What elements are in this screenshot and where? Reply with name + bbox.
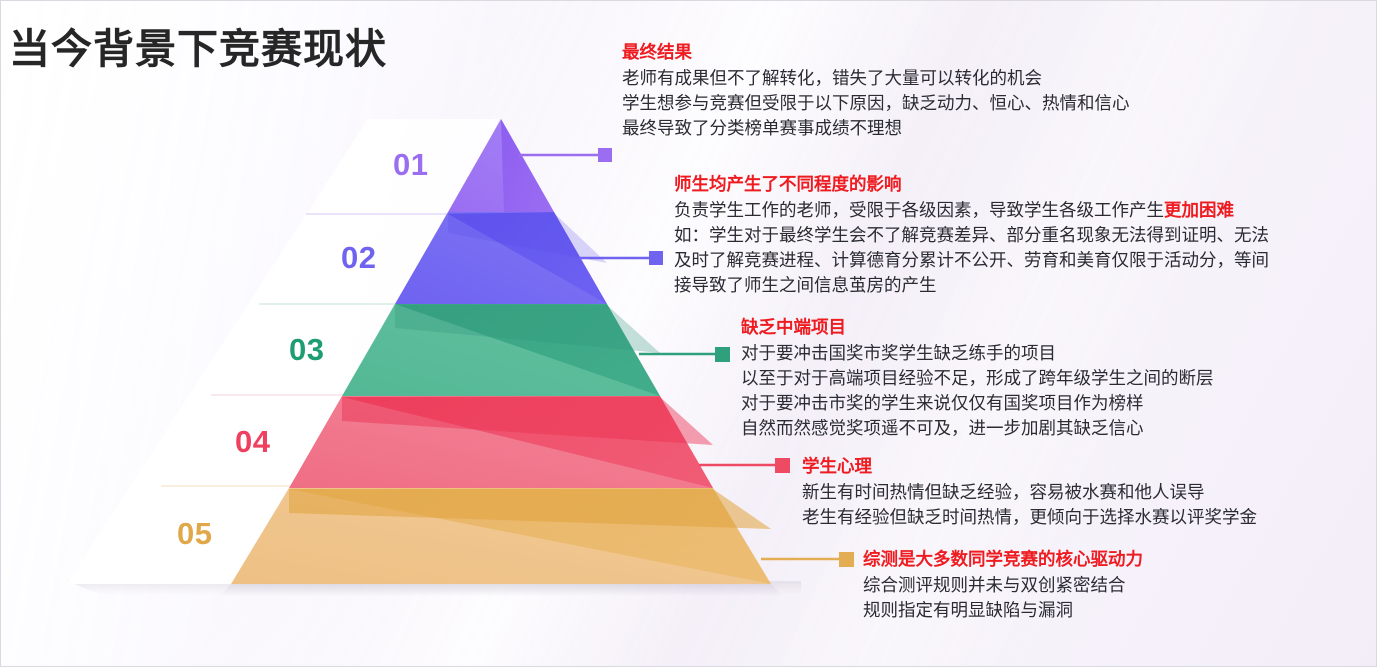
callout-02-heading: 师生均产生了不同程度的影响 bbox=[674, 171, 1269, 197]
callout-04-line-1: 新生有时间热情但缺乏经验，容易被水赛和他人误导 bbox=[802, 480, 1257, 505]
callout-02-line-1: 负责学生工作的老师，受限于各级因素，导致学生各级工作产生更加困难 bbox=[674, 198, 1269, 223]
callout-01-line-3: 最终导致了分类榜单赛事成绩不理想 bbox=[622, 116, 1130, 141]
pyramid-number-01: 01 bbox=[393, 147, 428, 183]
callout-02-line-4: 接导致了师生之间信息茧房的产生 bbox=[674, 273, 1269, 298]
callout-03: 缺乏中端项目 对于要冲击国奖市奖学生缺乏练手的项目 以至于对于高端项目经验不足，… bbox=[741, 314, 1214, 441]
callout-03-heading: 缺乏中端项目 bbox=[741, 314, 1214, 340]
callout-01-line-1: 老师有成果但不了解转化，错失了大量可以转化的机会 bbox=[622, 66, 1130, 91]
callout-03-line-3: 对于要冲击市奖的学生来说仅仅有国奖项目作为榜样 bbox=[741, 391, 1214, 416]
pyramid-number-03: 03 bbox=[289, 332, 324, 368]
callout-02-line-2: 如：学生对于最终学生会不了解竞赛差异、部分重名现象无法得到证明、无法 bbox=[674, 223, 1269, 248]
callout-05: 综测是大多数同学竞赛的核心驱动力 综合测评规则并未与双创紧密结合 规则指定有明显… bbox=[863, 546, 1143, 623]
callout-05-line-2: 规则指定有明显缺陷与漏洞 bbox=[863, 598, 1143, 623]
callout-01-heading: 最终结果 bbox=[622, 39, 1130, 65]
pyramid-number-04: 04 bbox=[235, 424, 270, 460]
callout-01: 最终结果 老师有成果但不了解转化，错失了大量可以转化的机会 学生想参与竞赛但受限… bbox=[622, 39, 1130, 141]
pyramid-number-02: 02 bbox=[341, 240, 376, 276]
callout-05-heading: 综测是大多数同学竞赛的核心驱动力 bbox=[863, 546, 1143, 572]
slide-canvas: 当今背景下竞赛现状 bbox=[0, 0, 1377, 667]
callout-03-line-2: 以至于对于高端项目经验不足，形成了跨年级学生之间的断层 bbox=[741, 366, 1214, 391]
pyramid-band-04 bbox=[289, 396, 713, 488]
callout-05-line-1: 综合测评规则并未与双创紧密结合 bbox=[863, 573, 1143, 598]
pyramid-band-05 bbox=[231, 488, 771, 584]
page-title: 当今背景下竞赛现状 bbox=[9, 15, 387, 75]
callout-04: 学生心理 新生有时间热情但缺乏经验，容易被水赛和他人误导 老生有经验但缺乏时间热… bbox=[802, 453, 1257, 530]
callout-04-line-2: 老生有经验但缺乏时间热情，更倾向于选择水赛以评奖学金 bbox=[802, 505, 1257, 530]
callout-03-line-4: 自然而然感觉奖项遥不可及，进一步加剧其缺乏信心 bbox=[741, 416, 1214, 441]
callout-02-line-1-text: 负责学生工作的老师，受限于各级因素，导致学生各级工作产生 bbox=[674, 200, 1164, 220]
pyramid-number-05: 05 bbox=[177, 516, 212, 552]
pyramid-base-shadow bbox=[219, 584, 783, 597]
connector-05 bbox=[761, 552, 854, 567]
callout-02-highlight: 更加困难 bbox=[1164, 200, 1234, 220]
connector-04 bbox=[699, 458, 790, 473]
callout-02: 师生均产生了不同程度的影响 负责学生工作的老师，受限于各级因素，导致学生各级工作… bbox=[674, 171, 1269, 298]
callout-02-line-3: 及时了解竞赛进程、计算德育分累计不公开、劳育和美育仅限于活动分，等间 bbox=[674, 248, 1269, 273]
connector-01 bbox=[519, 148, 612, 162]
callout-04-heading: 学生心理 bbox=[802, 453, 1257, 479]
callout-03-line-1: 对于要冲击国奖市奖学生缺乏练手的项目 bbox=[741, 341, 1214, 366]
pyramid-band-03 bbox=[342, 304, 660, 396]
callout-01-line-2: 学生想参与竞赛但受限于以下原因，缺乏动力、恒心、热情和信心 bbox=[622, 91, 1130, 116]
